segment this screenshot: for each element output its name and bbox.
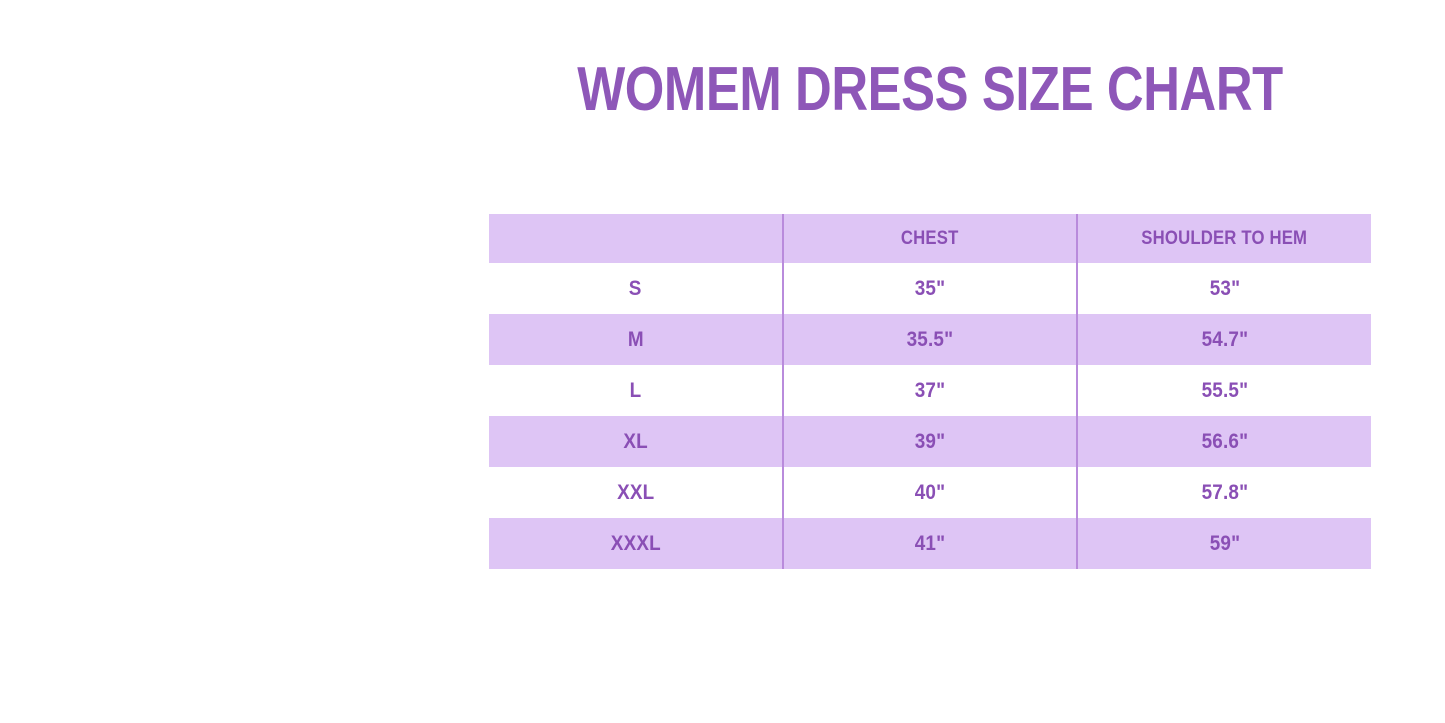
table-row: M 35.5" 54.7" <box>489 314 1371 365</box>
cell-size: XXXL <box>489 518 783 569</box>
cell-size: S <box>489 263 783 314</box>
cell-size: M <box>489 314 783 365</box>
column-header-chest-label: CHEST <box>901 228 959 250</box>
table-row: L 37" 55.5" <box>489 365 1371 416</box>
table-header: CHEST SHOULDER TO HEM <box>489 214 1371 263</box>
cell-chest: 40" <box>783 467 1077 518</box>
cell-shoulder-to-hem: 56.6" <box>1077 416 1371 467</box>
cell-size: L <box>489 365 783 416</box>
table-row: S 35" 53" <box>489 263 1371 314</box>
cell-chest: 35" <box>783 263 1077 314</box>
column-header-shoulder-to-hem-label: SHOULDER TO HEM <box>1142 228 1308 250</box>
column-header-size <box>489 214 783 263</box>
table-header-row: CHEST SHOULDER TO HEM <box>489 214 1371 263</box>
column-header-chest: CHEST <box>783 214 1077 263</box>
cell-chest: 41" <box>783 518 1077 569</box>
page-title: WOMEM DRESS SIZE CHART <box>568 55 1291 125</box>
table-row: XXL 40" 57.8" <box>489 467 1371 518</box>
cell-shoulder-to-hem: 57.8" <box>1077 467 1371 518</box>
table-body: S 35" 53" M 35.5" 54.7" <box>489 263 1371 569</box>
cell-chest: 39" <box>783 416 1077 467</box>
table-row: XXXL 41" 59" <box>489 518 1371 569</box>
cell-size: XL <box>489 416 783 467</box>
cell-chest: 35.5" <box>783 314 1077 365</box>
cell-size: XXL <box>489 467 783 518</box>
cell-shoulder-to-hem: 53" <box>1077 263 1371 314</box>
size-chart-table: CHEST SHOULDER TO HEM S 35" 53" <box>489 214 1371 569</box>
table-row: XL 39" 56.6" <box>489 416 1371 467</box>
column-header-shoulder-to-hem: SHOULDER TO HEM <box>1077 214 1371 263</box>
cell-shoulder-to-hem: 55.5" <box>1077 365 1371 416</box>
cell-shoulder-to-hem: 59" <box>1077 518 1371 569</box>
cell-chest: 37" <box>783 365 1077 416</box>
cell-shoulder-to-hem: 54.7" <box>1077 314 1371 365</box>
size-chart-canvas: WOMEM DRESS SIZE CHART CHEST SHOULDER TO… <box>0 0 1445 723</box>
